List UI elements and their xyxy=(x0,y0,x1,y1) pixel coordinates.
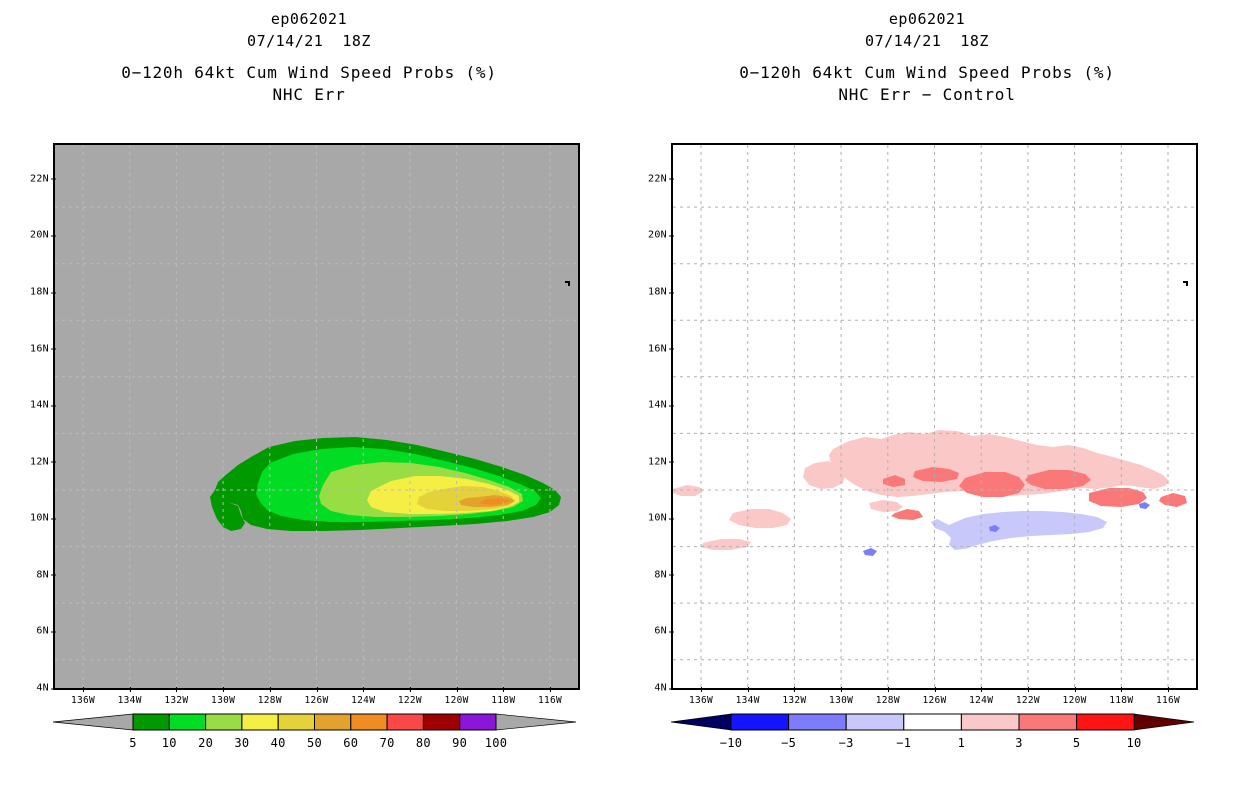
cbar-prob-label-30: 30 xyxy=(234,736,249,750)
left-ytick-4n: 4N xyxy=(36,683,55,694)
cbar-diff-label-5: 5 xyxy=(1073,736,1081,750)
left-ytick-20n: 20N xyxy=(30,230,55,241)
cbar-prob-label-50: 50 xyxy=(307,736,322,750)
right-ytick-20n: 20N xyxy=(648,230,673,241)
right-xtick-126w: 126W xyxy=(922,688,946,706)
left-ytick-12n: 12N xyxy=(30,456,55,467)
cbar-prob-label-5: 5 xyxy=(129,736,137,750)
right-xtick-128w: 128W xyxy=(876,688,900,706)
difference-colorbar: −10 −5 −3 −1 1 3 5 10 xyxy=(671,712,1194,760)
probability-colorbar-swatches xyxy=(53,712,576,736)
right-ytick-12n: 12N xyxy=(648,456,673,467)
cbar-prob-label-20: 20 xyxy=(198,736,213,750)
left-storm-position-marker xyxy=(565,281,572,288)
right-xtick-124w: 124W xyxy=(969,688,993,706)
right-storm-id: ep062021 xyxy=(618,8,1236,30)
panel-nhc-err: ep062021 07/14/21 18Z 0−120h 64kt Cum Wi… xyxy=(0,0,618,800)
cbar-prob-label-40: 40 xyxy=(271,736,286,750)
right-datetime: 07/14/21 18Z xyxy=(618,30,1236,52)
left-ytick-8n: 8N xyxy=(36,569,55,580)
left-datetime: 07/14/21 18Z xyxy=(0,30,618,52)
left-xtick-122w: 122W xyxy=(398,688,422,706)
right-ytick-14n: 14N xyxy=(648,400,673,411)
cbar-diff-label-1: 1 xyxy=(958,736,966,750)
right-ytick-4n: 4N xyxy=(654,683,673,694)
right-xtick-122w: 122W xyxy=(1016,688,1040,706)
cbar-diff-label-neg10: −10 xyxy=(720,736,743,750)
right-ytick-16n: 16N xyxy=(648,343,673,354)
left-plot-area xyxy=(55,145,578,688)
right-xtick-134w: 134W xyxy=(736,688,760,706)
right-ytick-22n: 22N xyxy=(648,173,673,184)
left-product-title: 0−120h 64kt Cum Wind Speed Probs (%) xyxy=(0,62,618,84)
cbar-prob-label-80: 80 xyxy=(416,736,431,750)
right-xtick-120w: 120W xyxy=(1063,688,1087,706)
right-xtick-130w: 130W xyxy=(829,688,853,706)
right-subtitle: NHC Err − Control xyxy=(618,84,1236,106)
right-ytick-18n: 18N xyxy=(648,287,673,298)
left-ytick-18n: 18N xyxy=(30,287,55,298)
cbar-prob-label-10: 10 xyxy=(162,736,177,750)
left-ytick-16n: 16N xyxy=(30,343,55,354)
left-xtick-118w: 118W xyxy=(491,688,515,706)
cbar-prob-label-90: 90 xyxy=(452,736,467,750)
right-xtick-116w: 116W xyxy=(1156,688,1180,706)
right-grid-and-contours xyxy=(673,145,1196,688)
right-xtick-132w: 132W xyxy=(782,688,806,706)
cbar-prob-label-70: 70 xyxy=(380,736,395,750)
right-product-title: 0−120h 64kt Cum Wind Speed Probs (%) xyxy=(618,62,1236,84)
left-ytick-10n: 10N xyxy=(30,513,55,524)
right-storm-position-marker xyxy=(1183,281,1190,288)
left-ytick-14n: 14N xyxy=(30,400,55,411)
left-xtick-128w: 128W xyxy=(258,688,282,706)
panel-nhc-err-minus-control: ep062021 07/14/21 18Z 0−120h 64kt Cum Wi… xyxy=(618,0,1236,800)
left-ytick-6n: 6N xyxy=(36,626,55,637)
left-ytick-22n: 22N xyxy=(30,173,55,184)
cbar-diff-label-neg3: −3 xyxy=(839,736,854,750)
cbar-prob-label-100: 100 xyxy=(485,736,508,750)
cbar-diff-label-3: 3 xyxy=(1015,736,1023,750)
left-plot-frame: 4N 6N 8N 10N 12N 14N 16N 18N 20N 22N 136… xyxy=(53,143,580,690)
left-xtick-130w: 130W xyxy=(211,688,235,706)
right-ytick-10n: 10N xyxy=(648,513,673,524)
cbar-prob-label-60: 60 xyxy=(343,736,358,750)
left-grid-and-contours xyxy=(55,145,578,688)
left-xtick-120w: 120W xyxy=(445,688,469,706)
cbar-diff-label-neg5: −5 xyxy=(781,736,796,750)
right-ytick-8n: 8N xyxy=(654,569,673,580)
left-xtick-136w: 136W xyxy=(71,688,95,706)
right-xtick-136w: 136W xyxy=(689,688,713,706)
left-xtick-124w: 124W xyxy=(351,688,375,706)
right-plot-frame: 4N 6N 8N 10N 12N 14N 16N 18N 20N 22N 136… xyxy=(671,143,1198,690)
left-storm-id: ep062021 xyxy=(0,8,618,30)
left-panel-titles: ep062021 07/14/21 18Z 0−120h 64kt Cum Wi… xyxy=(0,8,618,106)
right-ytick-6n: 6N xyxy=(654,626,673,637)
right-xtick-118w: 118W xyxy=(1109,688,1133,706)
cbar-diff-label-neg1: −1 xyxy=(896,736,911,750)
left-subtitle: NHC Err xyxy=(0,84,618,106)
left-xtick-132w: 132W xyxy=(164,688,188,706)
left-xtick-134w: 134W xyxy=(118,688,142,706)
right-panel-titles: ep062021 07/14/21 18Z 0−120h 64kt Cum Wi… xyxy=(618,8,1236,106)
right-plot-area xyxy=(673,145,1196,688)
difference-colorbar-swatches xyxy=(671,712,1194,736)
left-xtick-116w: 116W xyxy=(538,688,562,706)
probability-colorbar: 5 10 20 30 40 50 60 70 80 90 100 xyxy=(53,712,576,760)
cbar-diff-label-10: 10 xyxy=(1126,736,1141,750)
left-xtick-126w: 126W xyxy=(304,688,328,706)
